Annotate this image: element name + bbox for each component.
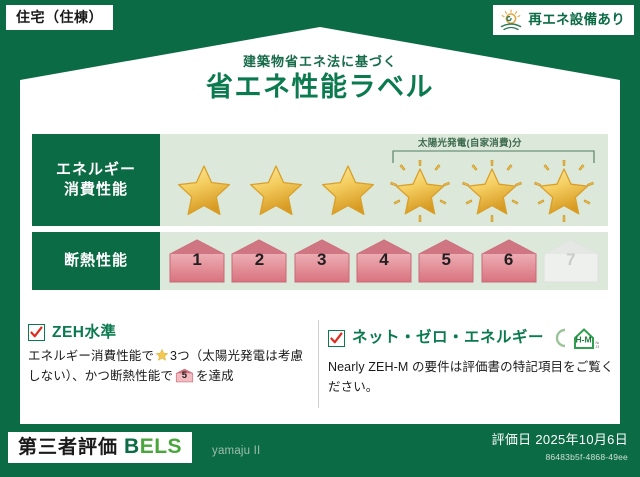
insulation-grade-6-value: 6	[478, 251, 540, 268]
insulation-label: 断熱性能	[64, 251, 128, 271]
zeh-standard-checkbox[interactable]	[28, 324, 45, 341]
energy-performance-row: エネルギー 消費性能 太陽光発電(自家消費)分	[32, 134, 608, 226]
insulation-grade-1: 1	[166, 238, 228, 284]
bels-plate: 第三者評価 BELS	[8, 432, 192, 463]
inline-grade-value: 5	[175, 371, 194, 381]
renewable-badge-label: 再エネ設備あり	[528, 13, 625, 27]
star-3	[317, 160, 379, 222]
star-rating	[160, 160, 608, 222]
solar-caption: 太陽光発電(自家消費)分	[418, 135, 522, 149]
star-4-solar	[389, 160, 451, 222]
performance-rows: エネルギー 消費性能 太陽光発電(自家消費)分	[32, 134, 608, 296]
zeh-body-post: を達成	[196, 369, 234, 383]
bels-wordmark: BELS	[124, 436, 182, 458]
label-subtitle: 建築物省エネ法に基づく	[0, 55, 640, 69]
label-title-block: 建築物省エネ法に基づく 省エネ性能ラベル	[0, 55, 640, 103]
bels-letters-els: ELS	[140, 435, 182, 458]
star-2	[245, 160, 307, 222]
evaluation-id: 86483b5f-4868-49ee	[545, 453, 628, 462]
evaluation-date: 評価日 2025年10月6日	[492, 433, 628, 446]
insulation-performance-row-body: 1 2 3	[160, 232, 608, 290]
star-1	[173, 160, 235, 222]
net-zero-energy-title: ネット・ゼロ・エネルギー	[352, 330, 544, 346]
sun-icon	[499, 9, 523, 31]
insulation-grade-7-value: 7	[540, 251, 602, 268]
label-title: 省エネ性能ラベル	[0, 73, 640, 103]
energy-performance-row-body: 太陽光発電(自家消費)分	[160, 134, 608, 226]
zeh-standard-title: ZEH水準	[52, 325, 117, 341]
insulation-performance-row: 断熱性能 1	[32, 232, 608, 290]
energy-label-line1: エネルギー	[56, 160, 136, 180]
energy-performance-row-label: エネルギー 消費性能	[32, 134, 160, 226]
zeh-body-pre: エネルギー消費性能で	[28, 349, 154, 363]
insulation-grade-5-value: 5	[415, 251, 477, 268]
insulation-grade-3: 3	[291, 238, 353, 284]
bels-jp-text: 第三者評価	[18, 438, 118, 457]
insulation-performance-row-label: 断熱性能	[32, 232, 160, 290]
insulation-grade-1-value: 1	[166, 251, 228, 268]
insulation-grade-4: 4	[353, 238, 415, 284]
zeh-standard-header: ZEH水準	[28, 324, 306, 341]
building-type-tag: 住宅（住棟）	[6, 5, 113, 30]
insulation-grade-6: 6	[478, 238, 540, 284]
insulation-grade-scale: 1 2 3	[160, 232, 608, 290]
zeh-standard-body: エネルギー消費性能で3つ（太陽光発電は考慮しない）、かつ断熱性能で5を達成	[28, 346, 306, 387]
insulation-grade-5: 5	[415, 238, 477, 284]
check-icon	[330, 332, 343, 345]
label-footer: 第三者評価 BELS yamaju II 評価日 2025年10月6日 8648…	[0, 424, 640, 477]
net-zero-energy-header: ネット・ゼロ・エネルギー H-M Nearly ZEH-M	[328, 324, 622, 352]
check-icon	[30, 326, 43, 339]
zeh-m-logo-sub2: ZEH-M	[596, 345, 600, 349]
star-6-solar	[533, 160, 595, 222]
insulation-grade-4-value: 4	[353, 251, 415, 268]
star-5-solar	[461, 160, 523, 222]
callout-section: ZEH水準 エネルギー消費性能で3つ（太陽光発電は考慮しない）、かつ断熱性能で5…	[0, 316, 640, 420]
zeh-standard-callout: ZEH水準 エネルギー消費性能で3つ（太陽光発電は考慮しない）、かつ断熱性能で5…	[0, 316, 320, 420]
building-name: yamaju II	[212, 446, 260, 458]
net-zero-energy-checkbox[interactable]	[328, 330, 345, 347]
net-zero-energy-callout: ネット・ゼロ・エネルギー H-M Nearly ZEH-M Nearly ZEH…	[320, 316, 640, 420]
insulation-grade-2-value: 2	[228, 251, 290, 268]
net-zero-energy-body: Nearly ZEH-M の要件は評価書の特記項目をご覧ください。	[328, 357, 622, 398]
zeh-m-logo-text: H-M	[575, 335, 591, 345]
renewable-energy-badge: 再エネ設備あり	[493, 5, 634, 35]
bels-letter-b: B	[124, 435, 140, 458]
inline-star-icon	[155, 348, 169, 362]
zeh-m-logo-icon: H-M Nearly ZEH-M	[553, 324, 599, 352]
insulation-grade-7: 7	[540, 238, 602, 284]
energy-performance-label: 住宅（住棟） 再エネ設備あり 建築物省エネ法に基づく 省エネ性能ラベル	[0, 0, 640, 477]
insulation-grade-2: 2	[228, 238, 290, 284]
inline-grade-badge: 5	[175, 368, 194, 383]
energy-label-line2: 消費性能	[64, 180, 128, 200]
insulation-grade-3-value: 3	[291, 251, 353, 268]
